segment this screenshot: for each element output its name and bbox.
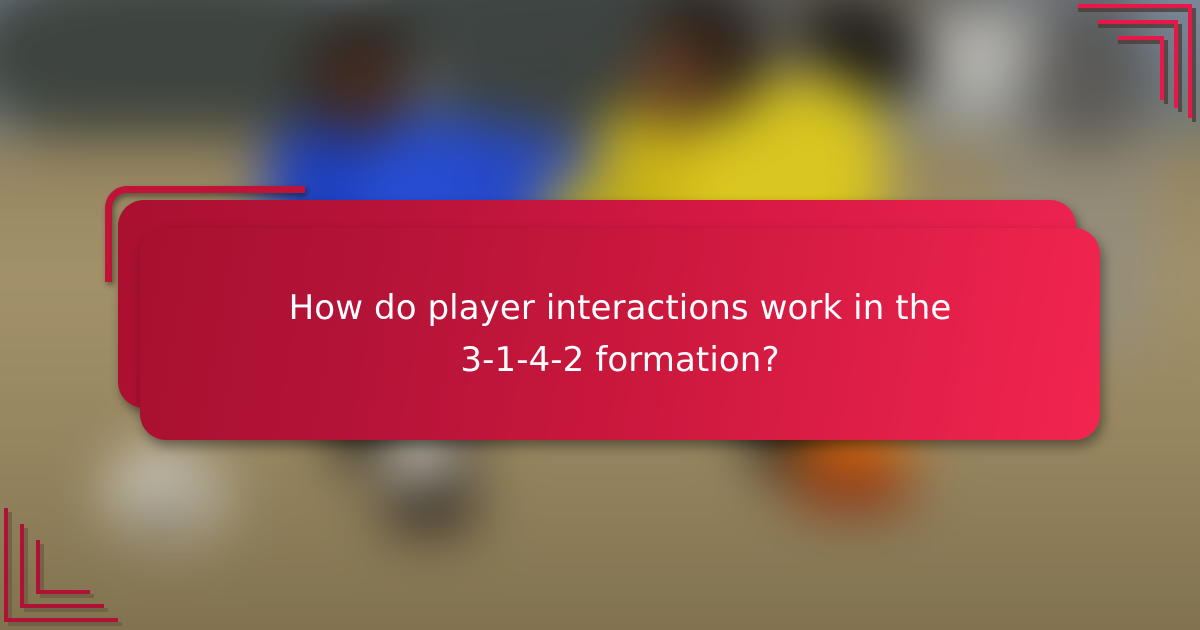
question-headline: How do player interactions work in the 3… [140, 282, 1100, 387]
poster-canvas: How do player interactions work in the 3… [0, 0, 1200, 630]
question-card[interactable]: How do player interactions work in the 3… [140, 228, 1100, 440]
